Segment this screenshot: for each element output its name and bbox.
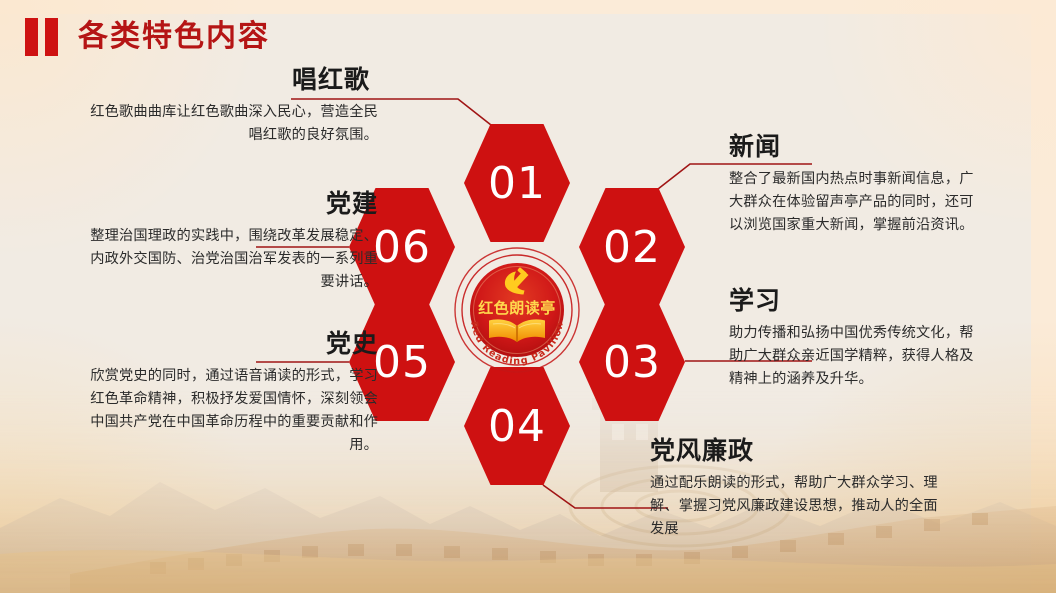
feature-heading-dangfeng: 党风廉政 (650, 437, 950, 465)
feature-body-dangjian: 整理治国理政的实践中，围绕改革发展稳定、内政外交国防、治党治国治军发表的一系列重… (86, 225, 378, 294)
feature-block-dangjian: 党建 整理治国理政的实践中，围绕改革发展稳定、内政外交国防、治党治国治军发表的一… (86, 190, 378, 294)
hexagon-03-number: 03 (603, 337, 661, 388)
title-accent-bar-1 (25, 18, 38, 56)
feature-heading-xuexi: 学习 (729, 287, 979, 315)
feature-heading-xinwen: 新闻 (729, 133, 979, 161)
title-accent-bars (25, 18, 58, 56)
feature-body-xinwen: 整合了最新国内热点时事新闻信息，广大群众在体验留声亭产品的同时，还可以浏览国家重… (729, 168, 979, 237)
feature-body-dangshi: 欣赏党史的同时，通过语音诵读的形式，学习红色革命精神，积极抒发爱国情怀，深刻领会… (86, 365, 378, 457)
center-logo: 红色朗读亭 Red Reading Pavilion (453, 246, 581, 374)
feature-body-dangfeng: 通过配乐朗读的形式，帮助广大群众学习、理解、掌握习党风廉政建设思想，推动人的全面… (650, 472, 950, 541)
hexagon-02-number: 02 (603, 222, 661, 273)
feature-block-xuexi: 学习 助力传播和弘扬中国优秀传统文化，帮助广大群众亲近国学精粹，获得人格及精神上… (729, 287, 979, 391)
logo-cn-text: 红色朗读亭 (478, 299, 556, 317)
feature-block-xinwen: 新闻 整合了最新国内热点时事新闻信息，广大群众在体验留声亭产品的同时，还可以浏览… (729, 133, 979, 237)
hexagon-04-number: 04 (488, 401, 546, 452)
feature-block-dangshi: 党史 欣赏党史的同时，通过语音诵读的形式，学习红色革命精神，积极抒发爱国情怀，深… (86, 330, 378, 457)
page-title-row: 各类特色内容 (25, 18, 270, 56)
feature-block-changhongge: 唱红歌 红色歌曲曲库让红色歌曲深入民心，营造全民唱红歌的良好氛围。 (86, 66, 378, 147)
hexagon-05-number: 05 (373, 337, 431, 388)
hexagon-06-number: 06 (373, 222, 431, 273)
feature-block-dangfeng: 党风廉政 通过配乐朗读的形式，帮助广大群众学习、理解、掌握习党风廉政建设思想，推… (650, 437, 950, 541)
feature-body-changhongge: 红色歌曲曲库让红色歌曲深入民心，营造全民唱红歌的良好氛围。 (86, 101, 378, 147)
hexagon-01-number: 01 (488, 158, 546, 209)
feature-heading-dangjian: 党建 (86, 190, 378, 218)
feature-heading-dangshi: 党史 (86, 330, 378, 358)
title-accent-bar-2 (45, 18, 58, 56)
feature-heading-changhongge: 唱红歌 (86, 66, 378, 94)
page-title: 各类特色内容 (78, 22, 270, 52)
slide-canvas: 各类特色内容 01 02 03 04 05 06 (0, 0, 1056, 593)
feature-body-xuexi: 助力传播和弘扬中国优秀传统文化，帮助广大群众亲近国学精粹，获得人格及精神上的涵养… (729, 322, 979, 391)
